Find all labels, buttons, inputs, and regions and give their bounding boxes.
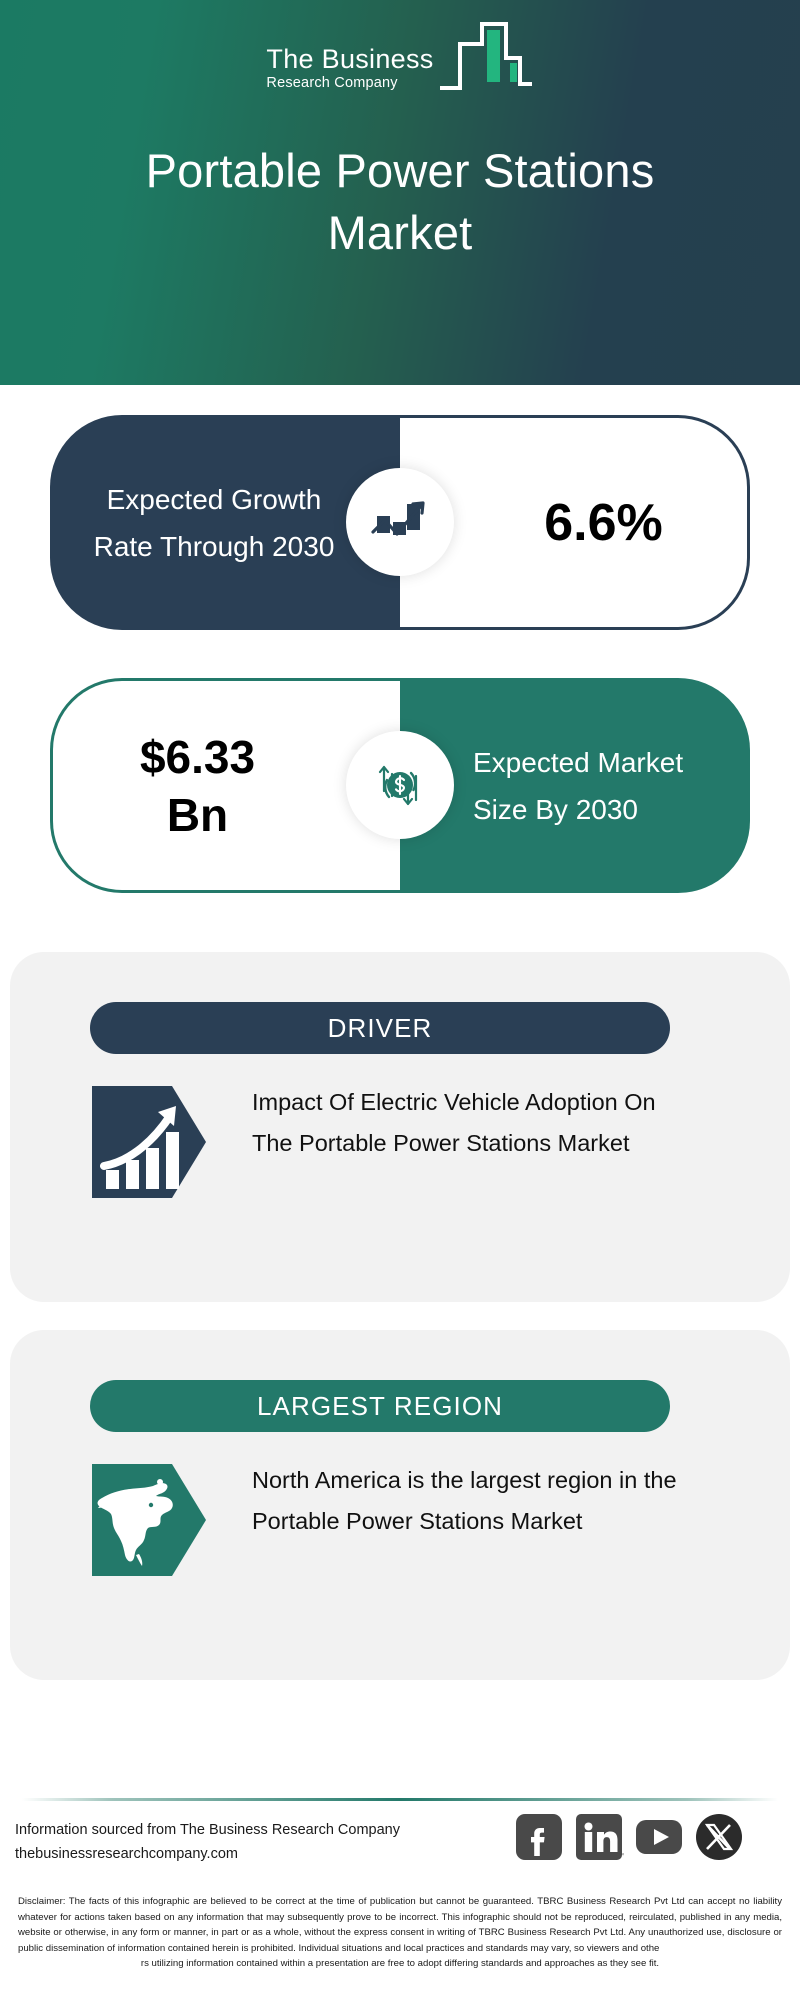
disclaimer-main: Disclaimer: The facts of this infographi… <box>18 1896 782 1954</box>
header-banner: The Business Research Company Portable P… <box>0 0 800 385</box>
disclaimer-text: Disclaimer: The facts of this infographi… <box>18 1894 782 1972</box>
growth-rate-card: Expected Growth Rate Through 2030 6.6% <box>50 415 750 630</box>
market-size-value: $6.33 Bn <box>82 728 372 844</box>
largest-region-pill-label: LARGEST REGION <box>257 1391 503 1422</box>
infographic-page: The Business Research Company Portable P… <box>0 0 800 2000</box>
north-america-map-hex-icon <box>90 1460 210 1580</box>
largest-region-text: North America is the largest region in t… <box>252 1460 682 1580</box>
largest-region-body: North America is the largest region in t… <box>90 1460 730 1580</box>
footer-divider <box>22 1788 778 1791</box>
logo-primary-text: The Business <box>266 44 433 74</box>
logo-secondary-text: Research Company <box>266 74 397 92</box>
driver-pill: DRIVER <box>90 1002 670 1054</box>
footer-website[interactable]: thebusinessresearchcompany.com <box>15 1842 400 1866</box>
linkedin-icon[interactable]: ™ <box>574 1812 624 1862</box>
bar-chart-logo-icon <box>438 18 534 95</box>
driver-body: Impact Of Electric Vehicle Adoption On T… <box>90 1082 730 1202</box>
growth-chart-arrow-icon <box>346 468 454 576</box>
market-size-card: $6.33 Bn Expected Market Size By 2030 <box>50 678 750 893</box>
largest-region-pill: LARGEST REGION <box>90 1380 670 1432</box>
logo-text-block: The Business Research Company <box>266 44 433 96</box>
x-twitter-icon[interactable] <box>694 1812 744 1862</box>
disclaimer-last-line: rs utilizing information contained withi… <box>18 1956 782 1972</box>
growth-rate-label: Expected Growth Rate Through 2030 <box>75 476 375 570</box>
footer-source-line: Information sourced from The Business Re… <box>15 1818 400 1842</box>
market-size-value-line1: $6.33 <box>140 731 255 783</box>
svg-text:™: ™ <box>618 1852 624 1859</box>
facebook-icon[interactable] <box>514 1812 564 1862</box>
driver-panel: DRIVER Impact Of Electric Vehicle Adopti… <box>10 952 790 1302</box>
driver-pill-label: DRIVER <box>328 1013 433 1044</box>
youtube-icon[interactable] <box>634 1812 684 1862</box>
social-links: ™ <box>514 1812 744 1862</box>
page-title: Portable Power Stations Market <box>70 140 730 264</box>
footer-source-block: Information sourced from The Business Re… <box>15 1818 400 1866</box>
market-size-value-line2: Bn <box>167 789 228 841</box>
market-size-label: Expected Market Size By 2030 <box>425 739 725 833</box>
company-logo: The Business Research Company <box>0 24 800 96</box>
largest-region-panel: LARGEST REGION North America is the larg… <box>10 1330 790 1680</box>
rising-bar-chart-hex-icon <box>90 1082 210 1202</box>
driver-text: Impact Of Electric Vehicle Adoption On T… <box>252 1082 682 1202</box>
dollar-exchange-icon <box>346 731 454 839</box>
growth-rate-value: 6.6% <box>484 493 663 553</box>
